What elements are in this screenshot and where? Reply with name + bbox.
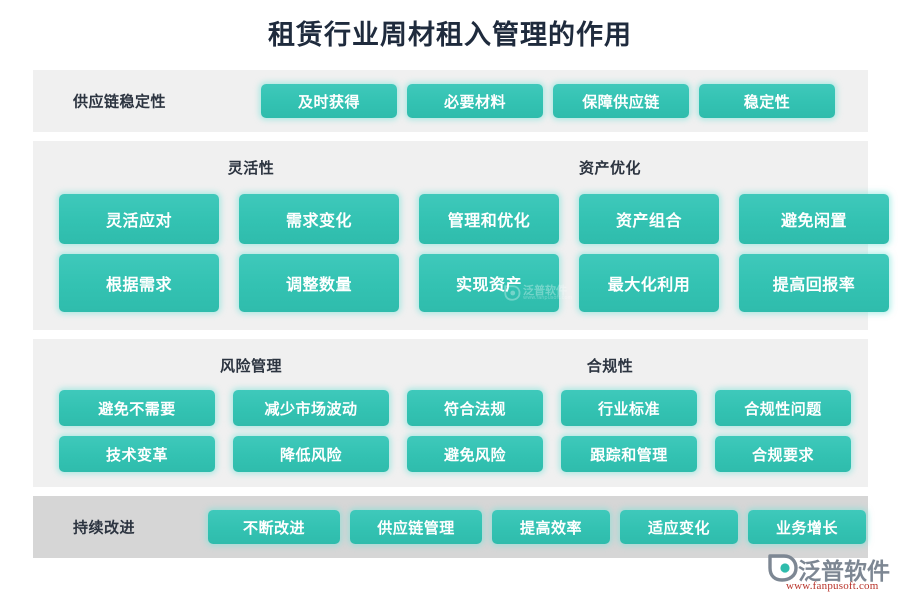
- section-supply-chain-stability: 供应链稳定性 及时获得 必要材料 保障供应链 稳定性: [33, 70, 868, 132]
- section-risk-compliance: 风险管理 合规性 避免不需要 减少市场波动 符合法规 行业标准 合规性问题 技术…: [33, 339, 868, 487]
- section-label-supply-chain-stability: 供应链稳定性: [73, 91, 166, 112]
- card-flexibility-r1c4[interactable]: 资产组合: [579, 194, 719, 244]
- card-supply-chain-stability-3[interactable]: 保障供应链: [553, 84, 689, 118]
- card-risk-r1c5[interactable]: 合规性问题: [715, 390, 851, 426]
- card-continuous-improvement-2[interactable]: 供应链管理: [350, 510, 482, 544]
- group-label-flexibility: 灵活性: [228, 157, 275, 178]
- section-continuous-improvement: 持续改进 不断改进 供应链管理 提高效率 适应变化 业务增长: [33, 496, 868, 558]
- card-flexibility-r1c3[interactable]: 管理和优化: [419, 194, 559, 244]
- infographic-page: 租赁行业周材租入管理的作用 供应链稳定性 及时获得 必要材料 保障供应链 稳定性…: [0, 0, 900, 600]
- card-risk-r2c2[interactable]: 降低风险: [233, 436, 389, 472]
- card-risk-r2c4[interactable]: 跟踪和管理: [561, 436, 697, 472]
- group-label-risk-management: 风险管理: [220, 355, 282, 376]
- card-risk-r2c1[interactable]: 技术变革: [59, 436, 215, 472]
- card-continuous-improvement-3[interactable]: 提高效率: [492, 510, 610, 544]
- group-headings-row-2: 风险管理 合规性: [33, 355, 868, 381]
- section-flexibility-asset-optimization: 灵活性 资产优化 灵活应对 需求变化 管理和优化 资产组合 避免闲置 根据需求 …: [33, 141, 868, 330]
- card-flexibility-r2c1[interactable]: 根据需求: [59, 254, 219, 312]
- card-continuous-improvement-4[interactable]: 适应变化: [620, 510, 738, 544]
- page-title: 租赁行业周材租入管理的作用: [0, 18, 900, 54]
- card-supply-chain-stability-4[interactable]: 稳定性: [699, 84, 835, 118]
- card-continuous-improvement-5[interactable]: 业务增长: [748, 510, 866, 544]
- card-risk-r1c2[interactable]: 减少市场波动: [233, 390, 389, 426]
- card-flexibility-r2c3[interactable]: 实现资产: [419, 254, 559, 312]
- group-label-compliance: 合规性: [587, 355, 634, 376]
- card-risk-r1c1[interactable]: 避免不需要: [59, 390, 215, 426]
- card-flexibility-r1c1[interactable]: 灵活应对: [59, 194, 219, 244]
- card-risk-r1c3[interactable]: 符合法规: [407, 390, 543, 426]
- card-flexibility-r2c2[interactable]: 调整数量: [239, 254, 399, 312]
- card-continuous-improvement-1[interactable]: 不断改进: [208, 510, 340, 544]
- card-supply-chain-stability-2[interactable]: 必要材料: [407, 84, 543, 118]
- group-label-asset-optimization: 资产优化: [579, 157, 641, 178]
- card-risk-r1c4[interactable]: 行业标准: [561, 390, 697, 426]
- card-risk-r2c5[interactable]: 合规要求: [715, 436, 851, 472]
- section-label-continuous-improvement: 持续改进: [73, 517, 135, 538]
- brand-mark-icon: [768, 554, 798, 582]
- card-flexibility-r1c2[interactable]: 需求变化: [239, 194, 399, 244]
- card-supply-chain-stability-1[interactable]: 及时获得: [261, 84, 397, 118]
- card-risk-r2c3[interactable]: 避免风险: [407, 436, 543, 472]
- card-flexibility-r2c5[interactable]: 提高回报率: [739, 254, 889, 312]
- card-flexibility-r2c4[interactable]: 最大化利用: [579, 254, 719, 312]
- brand-url: www.fanpusoft.com: [786, 580, 879, 592]
- brand-logo: 泛普软件 www.fanpusoft.com: [768, 552, 898, 596]
- card-flexibility-r1c5[interactable]: 避免闲置: [739, 194, 889, 244]
- group-headings-row: 灵活性 资产优化: [33, 157, 868, 183]
